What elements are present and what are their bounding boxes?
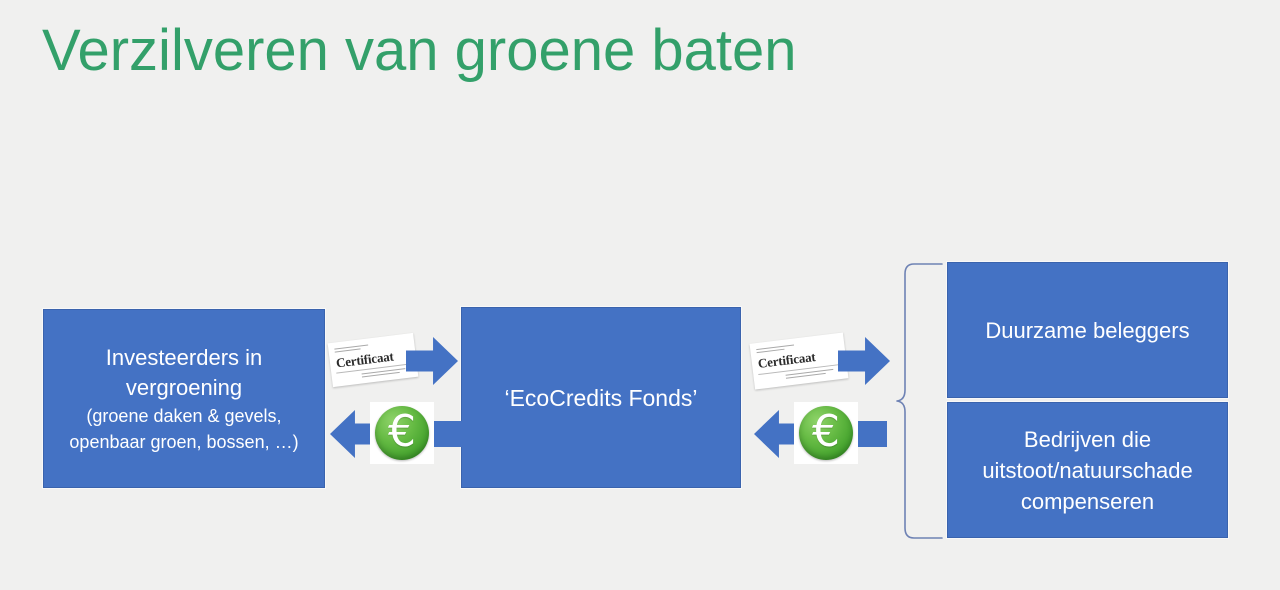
flow-left-certificate-to-fund: Certificaat xyxy=(330,333,458,391)
box-investors-text-wrap: Investeerders in vergroening (groene dak… xyxy=(63,343,304,455)
euro-coin-icon: € xyxy=(794,402,858,464)
box-investors-main-label: Investeerders in vergroening xyxy=(69,343,298,403)
flow-fund-payment-to-investors: € xyxy=(330,402,458,468)
box-ecocredits-fonds[interactable]: ‘EcoCredits Fonds’ xyxy=(461,307,741,488)
flow-right-certificate-to-buyers: Certificaat xyxy=(752,333,892,391)
flow-buyers-payment-to-fund: € xyxy=(748,402,888,468)
right-group-brace xyxy=(896,262,944,540)
euro-symbol: € xyxy=(388,410,416,454)
box-bedrijven-compenseren-label: Bedrijven die uitstoot/natuurschade comp… xyxy=(982,424,1192,517)
certificate-document-icon: Certificaat xyxy=(750,332,849,389)
box-fund-label: ‘EcoCredits Fonds’ xyxy=(504,383,697,413)
box-duurzame-beleggers[interactable]: Duurzame beleggers xyxy=(947,262,1228,398)
box-investeerders-in-vergroening[interactable]: Investeerders in vergroening (groene dak… xyxy=(43,309,325,488)
slide-canvas: Verzilveren van groene baten Investeerde… xyxy=(0,0,1280,590)
euro-symbol: € xyxy=(812,410,840,454)
certificate-document-icon: Certificaat xyxy=(328,333,419,387)
box-investors-sub-label: (groene daken & gevels, openbaar groen, … xyxy=(69,403,298,455)
box-bedrijven-compenseren[interactable]: Bedrijven die uitstoot/natuurschade comp… xyxy=(947,402,1228,538)
page-title: Verzilveren van groene baten xyxy=(42,14,797,88)
euro-coin-icon: € xyxy=(370,402,434,464)
arrow-tail-stub xyxy=(853,421,887,447)
box-duurzame-beleggers-label: Duurzame beleggers xyxy=(985,315,1189,346)
